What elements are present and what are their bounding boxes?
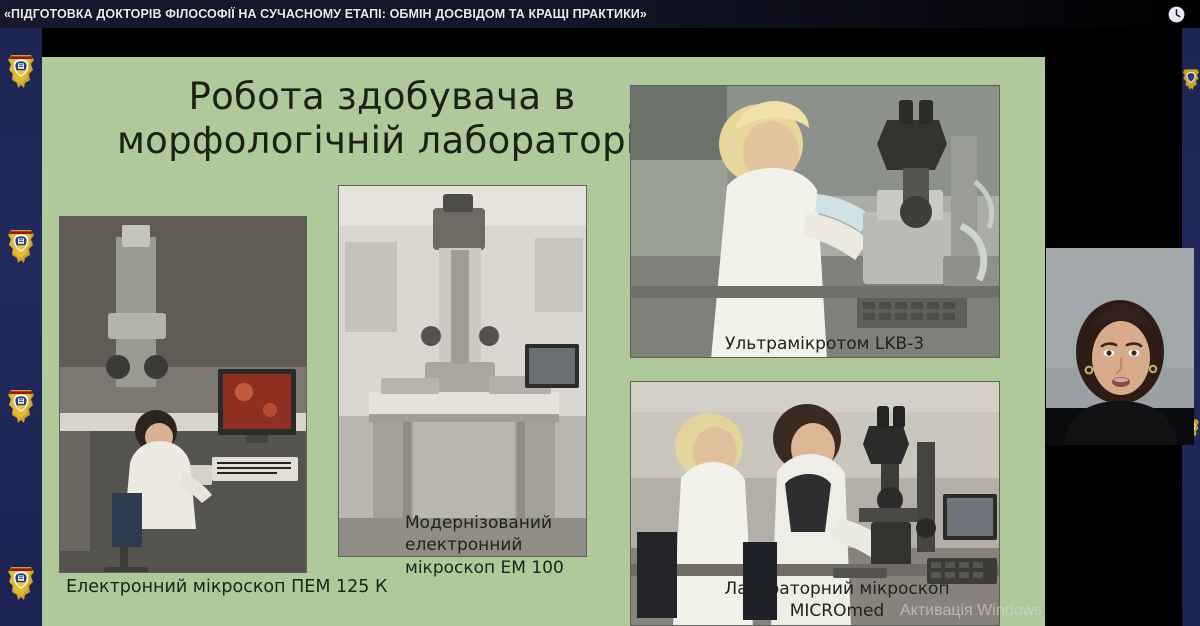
- title-bar-actions: [1167, 5, 1200, 24]
- windows-activation-watermark: Активація Windows: [900, 602, 1042, 620]
- window-title-bar: «ПІДГОТОВКА ДОКТОРІВ ФІЛОСОФІЇ НА СУЧАСН…: [0, 0, 1200, 28]
- university-crest-icon: [3, 49, 39, 89]
- participant-video-frame: [1046, 248, 1194, 445]
- university-crest-icon: [3, 561, 39, 601]
- shared-presentation-slide[interactable]: Робота здобувача в морфологічній лаборат…: [42, 57, 1045, 626]
- university-crest-icon: [1180, 66, 1200, 91]
- photo-electron-microscope-pem: [59, 216, 307, 573]
- participant-video-tile[interactable]: [1046, 248, 1194, 445]
- photo-ultramicrotome-lkb3: [630, 85, 1000, 358]
- conference-screen-share-window: «ПІДГОТОВКА ДОКТОРІВ ФІЛОСОФІЇ НА СУЧАСН…: [0, 0, 1200, 626]
- caption-ultramicrotome: Ультрамікротом LKB-3: [725, 333, 924, 355]
- caption-pem: Електронний мікроскоп ПЕМ 125 К: [66, 576, 387, 599]
- slide-title: Робота здобувача в морфологічній лаборат…: [102, 75, 662, 162]
- clock-icon[interactable]: [1167, 5, 1186, 24]
- university-crest-icon: [3, 384, 39, 424]
- left-branding-rail: [0, 28, 42, 626]
- caption-em100: Модернізований електронний мікроскоп ЕМ …: [405, 512, 564, 579]
- university-crest-icon: [3, 224, 39, 264]
- photo-electron-microscope-em100: [338, 185, 587, 557]
- window-title: «ПІДГОТОВКА ДОКТОРІВ ФІЛОСОФІЇ НА СУЧАСН…: [0, 7, 647, 21]
